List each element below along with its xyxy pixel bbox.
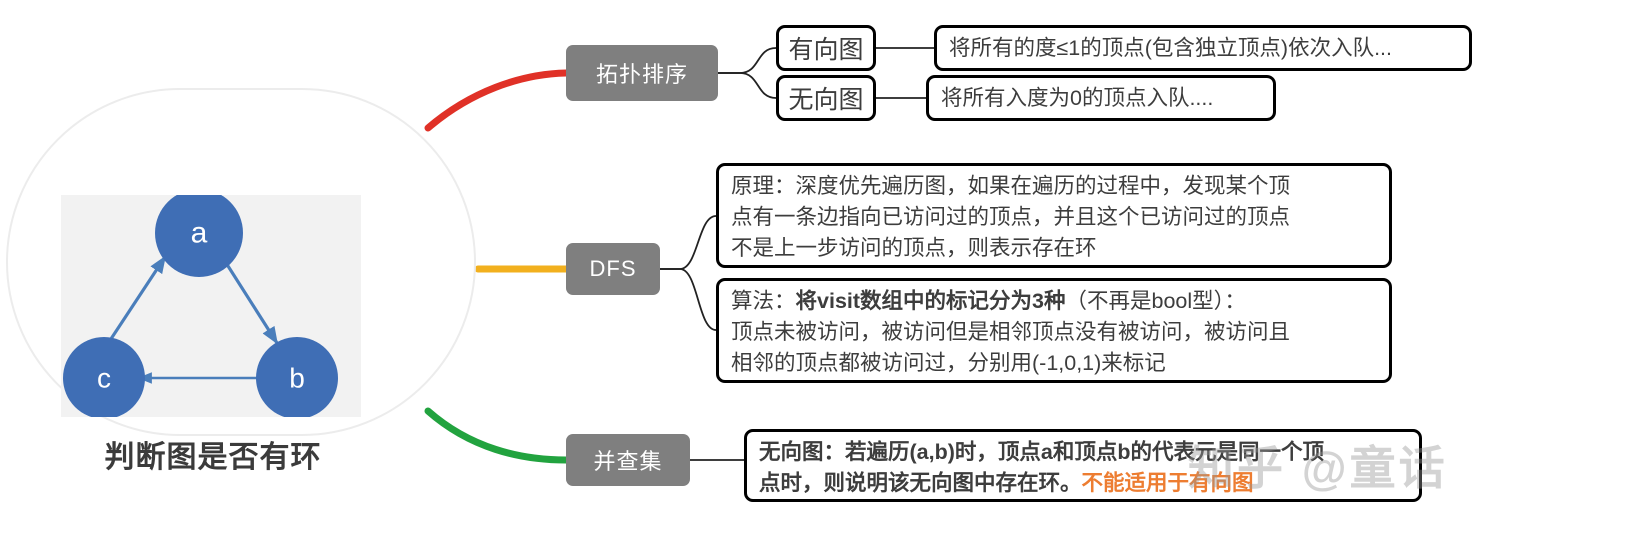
topic-undirected-graph[interactable]: 无向图 <box>776 75 876 121</box>
note-dfs-principle[interactable]: 原理：深度优先遍历图，如果在遍历的过程中，发现某个顶 点有一条边指向已访问过的顶… <box>716 163 1392 268</box>
note-dfs-algorithm-line-3: 相邻的顶点都被访问过，分别用(-1,0,1)来标记 <box>731 348 1379 379</box>
connector-root-dsu <box>428 411 566 460</box>
edge-a-b <box>221 255 277 343</box>
connector-dfs-algorithm <box>660 269 716 330</box>
note-dfs-algorithm[interactable]: 算法：将visit数组中的标记分为3种（不再是bool型）： 顶点未被访问，被访… <box>716 278 1392 383</box>
connector-dfs-principle <box>660 216 716 269</box>
edge-c-a <box>103 257 165 351</box>
detail-directed-graph-text: 将所有的度≤1的顶点(包含独立顶点)依次入队... <box>949 33 1392 64</box>
root-node[interactable]: a b c 判断图是否有环 <box>6 88 476 436</box>
note-dfs-algorithm-line-2: 顶点未被访问，被访问但是相邻顶点没有被访问，被访问且 <box>731 317 1379 348</box>
note-dfs-principle-line-3: 不是上一步访问的顶点，则表示存在环 <box>731 233 1379 264</box>
detail-undirected-graph[interactable]: 将所有入度为0的顶点入队.... <box>926 75 1276 121</box>
branch-pill-dsu[interactable]: 并查集 <box>566 434 690 486</box>
detail-undirected-graph-text: 将所有入度为0的顶点入队.... <box>941 83 1213 114</box>
topic-directed-graph-label: 有向图 <box>788 30 863 66</box>
graph-node-b-label: b <box>289 363 305 394</box>
mindmap-canvas: a b c 判断图是否有环 拓扑排序 有向图 无向图 将所有的度≤1的顶点(包含… <box>0 0 1634 555</box>
cycle-graph-svg: a b c <box>61 195 361 417</box>
root-thumbnail-graph: a b c <box>61 195 361 417</box>
note-dsu-line-2-text: 点时，则说明该无向图中存在环。 <box>759 471 1082 495</box>
branch-pill-dfs-label: DFS <box>590 256 637 282</box>
note-dfs-algorithm-prefix: 算法： <box>731 289 796 313</box>
note-dfs-algorithm-suffix: （不再是bool型）： <box>1066 289 1246 313</box>
graph-node-a-label: a <box>191 217 208 250</box>
connector-topo-directed <box>718 48 776 73</box>
root-title: 判断图是否有环 <box>48 432 378 476</box>
note-dfs-algorithm-line-1: 算法：将visit数组中的标记分为3种（不再是bool型）： <box>731 286 1379 317</box>
topic-directed-graph[interactable]: 有向图 <box>776 25 876 71</box>
branch-pill-dfs[interactable]: DFS <box>566 243 660 295</box>
detail-directed-graph[interactable]: 将所有的度≤1的顶点(包含独立顶点)依次入队... <box>934 25 1472 71</box>
topic-undirected-graph-label: 无向图 <box>788 80 863 116</box>
watermark: 知乎 @童话 <box>1188 432 1448 498</box>
connector-topo-undirected <box>718 73 776 98</box>
graph-node-c-label: c <box>97 363 111 394</box>
branch-pill-topo-label: 拓扑排序 <box>596 57 688 89</box>
note-dfs-principle-line-1: 原理：深度优先遍历图，如果在遍历的过程中，发现某个顶 <box>731 171 1379 202</box>
note-dfs-algorithm-bold: 将visit数组中的标记分为3种 <box>796 289 1066 313</box>
branch-pill-dsu-label: 并查集 <box>593 444 662 476</box>
note-dfs-principle-line-2: 点有一条边指向已访问过的顶点，并且这个已访问过的顶点 <box>731 202 1379 233</box>
branch-pill-topo[interactable]: 拓扑排序 <box>566 45 718 101</box>
connector-root-topo <box>428 73 566 128</box>
